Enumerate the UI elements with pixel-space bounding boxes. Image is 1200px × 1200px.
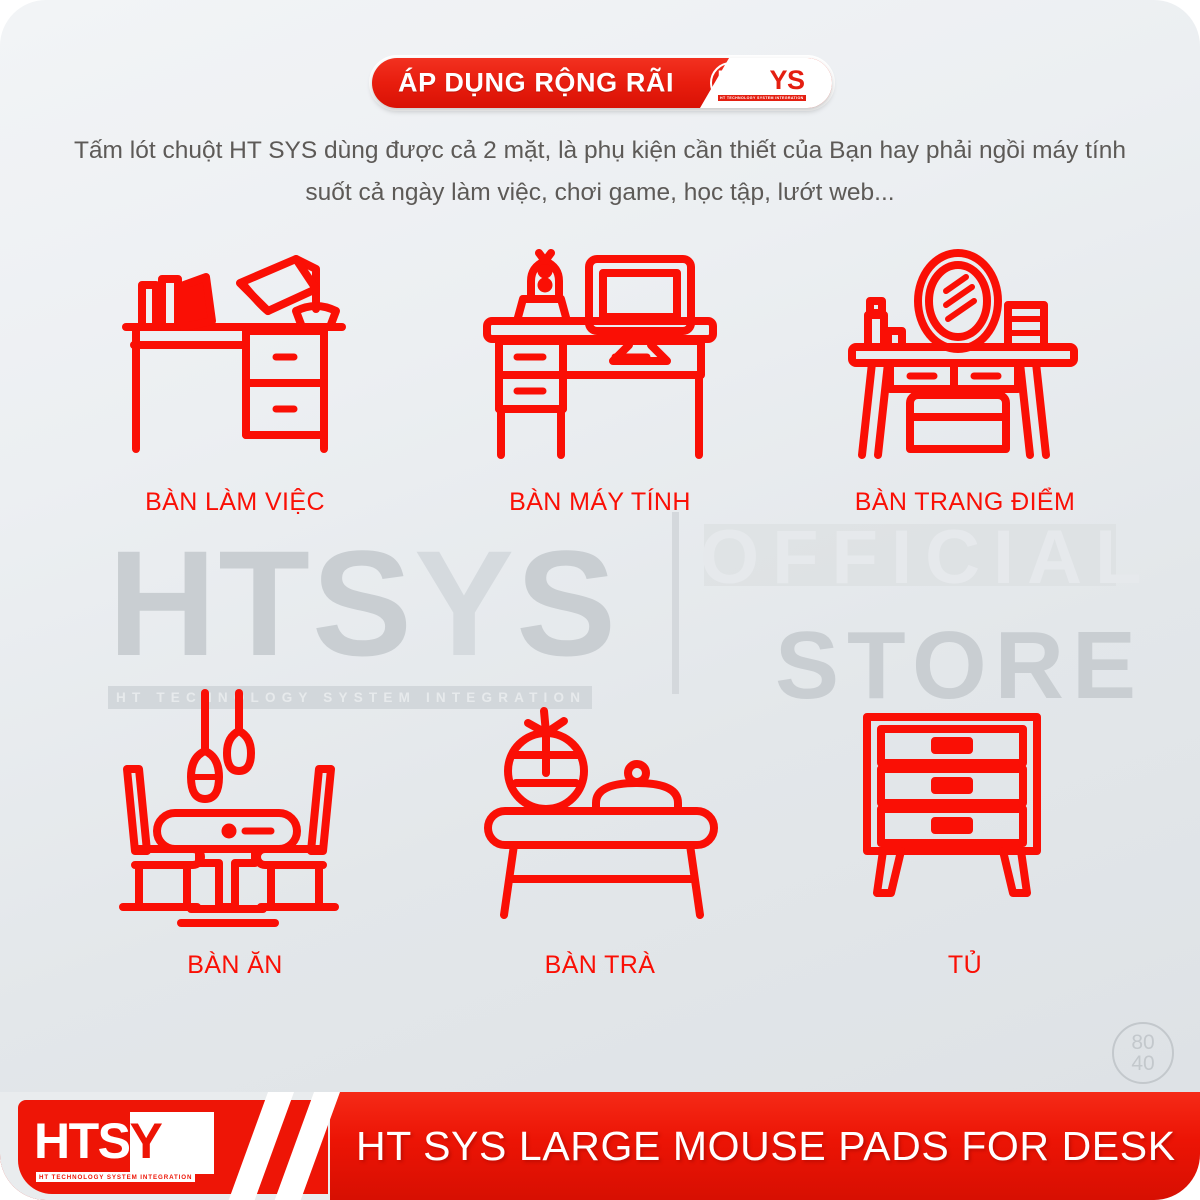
grid-item-cabinet: TỦ bbox=[800, 687, 1130, 980]
size-badge-height: 40 bbox=[1131, 1053, 1154, 1074]
size-badge-width: 80 bbox=[1131, 1032, 1154, 1053]
coffee-table-icon bbox=[478, 689, 723, 937]
footer-logo-hts: HTS bbox=[34, 1113, 130, 1169]
dining-table-icon bbox=[113, 689, 358, 937]
footer-logo: HTSYS HT TECHNOLOGY SYSTEM INTEGRATION bbox=[34, 1114, 224, 1178]
grid-item-label: BÀN LÀM VIỆC bbox=[145, 488, 325, 517]
grid-item-work-desk: BÀN LÀM VIỆC bbox=[70, 242, 400, 517]
computer-desk-icon bbox=[483, 249, 718, 474]
grid-item-label: BÀN TRÀ bbox=[545, 951, 656, 980]
furniture-grid: BÀN LÀM VIỆC bbox=[70, 242, 1130, 980]
work-desk-art bbox=[110, 242, 360, 474]
footer-logo-tagline: HT TECHNOLOGY SYSTEM INTEGRATION bbox=[36, 1172, 195, 1182]
cabinet-icon bbox=[843, 689, 1088, 937]
footer-title: HT SYS LARGE MOUSE PADS FOR DESK bbox=[356, 1092, 1176, 1200]
grid-row-2: BÀN ĂN bbox=[70, 687, 1130, 980]
banner-logo-y: Y bbox=[770, 65, 788, 95]
footer-logo-y: Y bbox=[130, 1113, 162, 1169]
grid-item-computer-desk: BÀN MÁY TÍNH bbox=[435, 242, 765, 517]
vanity-table-icon bbox=[848, 249, 1083, 474]
banner-logo-s: S bbox=[787, 65, 805, 95]
banner-logo-hts: HTS bbox=[717, 65, 770, 95]
grid-item-label: TỦ bbox=[948, 951, 982, 980]
dining-table-art bbox=[110, 687, 360, 937]
banner-logo-tagline: HT TECHNOLOGY SYSTEM INTEGRATION bbox=[718, 95, 806, 101]
vanity-table-art bbox=[840, 242, 1090, 474]
banner-logo-letters: HTSYS bbox=[717, 67, 805, 94]
grid-item-label: BÀN TRANG ĐIỂM bbox=[855, 488, 1075, 517]
cabinet-art bbox=[840, 687, 1090, 937]
banner-headline: ÁP DỤNG RỘNG RÃI bbox=[398, 68, 674, 99]
size-badge: 80 40 bbox=[1112, 1022, 1174, 1084]
grid-item-vanity: BÀN TRANG ĐIỂM bbox=[800, 242, 1130, 517]
coffee-table-art bbox=[475, 687, 725, 937]
top-banner: ÁP DỤNG RỘNG RÃI HTSYS HT TECHNOLOGY SYS… bbox=[372, 58, 832, 108]
footer-bar: HTSYS HT TECHNOLOGY SYSTEM INTEGRATION H… bbox=[0, 1092, 1200, 1200]
footer-logo-s: S bbox=[161, 1113, 193, 1169]
product-infographic: HTSYS HT TECHNOLOGY SYSTEM INTEGRATION O… bbox=[0, 0, 1200, 1200]
grid-item-label: BÀN ĂN bbox=[187, 951, 282, 980]
intro-paragraph: Tấm lót chuột HT SYS dùng được cả 2 mặt,… bbox=[60, 130, 1140, 214]
grid-item-coffee-table: BÀN TRÀ bbox=[435, 687, 765, 980]
computer-desk-art bbox=[475, 242, 725, 474]
grid-item-dining-table: BÀN ĂN bbox=[70, 687, 400, 980]
footer-logo-letters: HTSYS bbox=[34, 1114, 193, 1169]
grid-row-1: BÀN LÀM VIỆC bbox=[70, 242, 1130, 517]
grid-item-label: BÀN MÁY TÍNH bbox=[509, 488, 691, 517]
banner-logo: HTSYS HT TECHNOLOGY SYSTEM INTEGRATION bbox=[710, 62, 818, 104]
work-desk-icon bbox=[120, 249, 350, 474]
